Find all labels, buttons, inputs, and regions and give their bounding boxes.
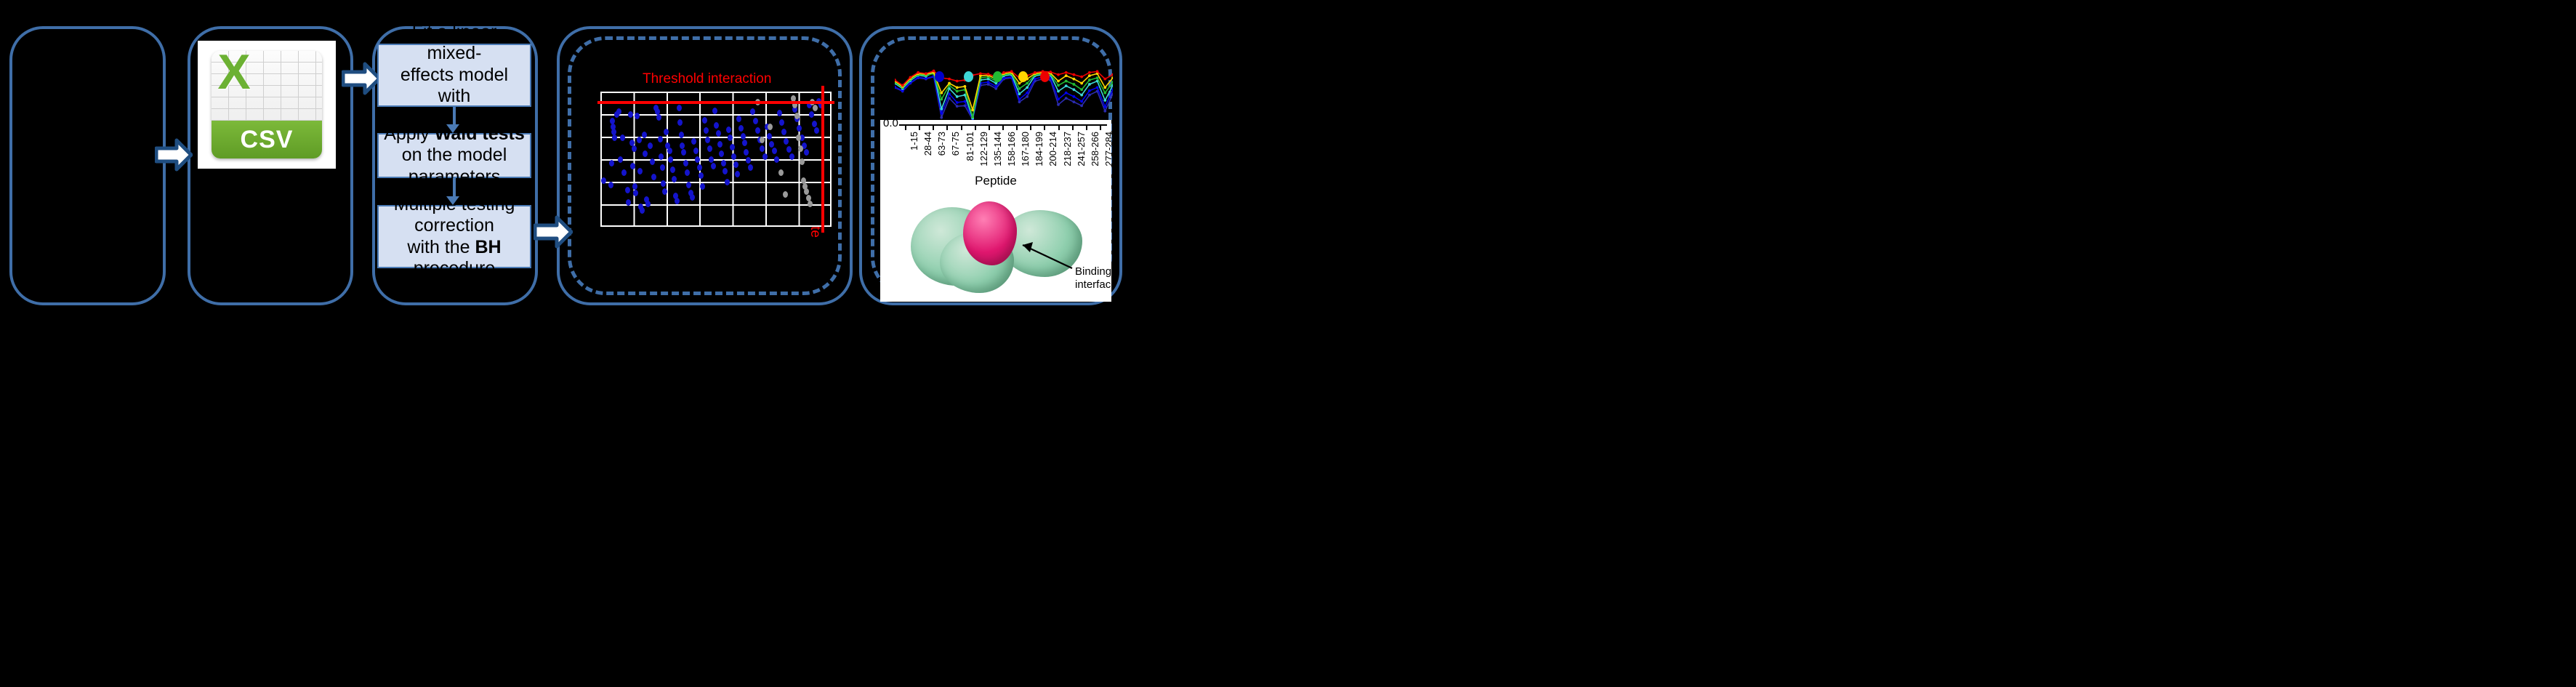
- connector-2-line: [453, 178, 456, 196]
- line-marker: [1103, 86, 1106, 89]
- peptide-label: 158-166: [1006, 132, 1017, 166]
- scatter-point: [662, 188, 667, 195]
- binding-interface-label-line1: Binding: [1075, 265, 1111, 278]
- step-3-pre: with the: [407, 237, 475, 257]
- scatter-point: [711, 163, 716, 169]
- peptide-label: 1-15: [909, 132, 919, 150]
- line-marker: [940, 116, 943, 119]
- line-marker: [956, 101, 959, 104]
- scatter-point: [726, 126, 731, 133]
- csv-label-band: CSV: [212, 121, 322, 158]
- threshold-state-line: [821, 86, 824, 233]
- line-marker: [1026, 86, 1029, 89]
- line-marker: [940, 98, 943, 101]
- scatter-point: [716, 130, 721, 137]
- line-marker: [956, 86, 959, 89]
- peptide-axis-ticks: [899, 124, 1107, 130]
- line-marker: [948, 92, 951, 95]
- axis-tick: [1016, 124, 1018, 130]
- axis-tick: [1072, 124, 1074, 130]
- line-marker: [964, 100, 967, 103]
- scatter-point: [620, 134, 625, 141]
- connector-1-line: [453, 107, 456, 124]
- peptide-label: 277-284: [1103, 132, 1111, 166]
- line-marker: [1018, 100, 1021, 103]
- line-marker: [940, 108, 943, 111]
- step-box-bh: Multiple testing correction with the BH …: [377, 205, 531, 268]
- axis-tick: [989, 124, 990, 130]
- scatter-point: [612, 134, 617, 141]
- input-arrow: [155, 138, 193, 172]
- connector-2-arrowhead: [446, 196, 459, 205]
- scatter-point: [741, 133, 746, 140]
- step-3-line-2: correction: [414, 215, 494, 236]
- scatter-point: [693, 148, 699, 154]
- scatter-point: [707, 145, 712, 152]
- line-marker: [1096, 86, 1099, 89]
- legend-dot: [964, 71, 973, 82]
- scatter-point: [789, 153, 794, 160]
- axis-tick: [946, 124, 948, 130]
- scatter-point: [679, 132, 684, 138]
- scatter-point: [608, 182, 613, 188]
- scatter-point: [728, 134, 733, 141]
- peptide-blob: [963, 201, 1017, 265]
- peptide-label: 28-44: [922, 132, 933, 156]
- line-marker: [1080, 100, 1083, 103]
- line-marker: [1065, 92, 1068, 95]
- scatter-point: [648, 142, 653, 149]
- peptide-label: 218-237: [1062, 132, 1073, 166]
- scatter-point: [645, 201, 651, 207]
- line-marker: [971, 116, 974, 118]
- scatter-point: [699, 172, 704, 179]
- scatter-point: [632, 145, 637, 152]
- axis-tick: [1100, 124, 1101, 130]
- scatter-point: [656, 114, 661, 121]
- axis-tick: [1058, 124, 1060, 130]
- scatter-point: [700, 183, 705, 190]
- line-marker: [940, 92, 943, 95]
- scatter-point: [686, 182, 691, 188]
- axis-tick: [919, 124, 920, 130]
- line-marker: [1018, 92, 1021, 95]
- binding-interface-label-line2: interface: [1075, 278, 1111, 292]
- scatter-point: [753, 118, 758, 124]
- step-3-bold: BH: [475, 237, 502, 257]
- scatter-point: [794, 113, 800, 119]
- peptide-label: 135-144: [992, 132, 1003, 166]
- line-marker: [948, 82, 951, 85]
- line-marker: [956, 95, 959, 98]
- peptide-label: 258-266: [1090, 132, 1100, 166]
- line-marker: [1103, 110, 1106, 113]
- scatter-point: [685, 169, 690, 176]
- y-tick-label: 0.0: [883, 120, 898, 129]
- line-marker: [1026, 95, 1029, 98]
- axis-tick: [1086, 124, 1087, 130]
- scatter-point: [630, 163, 635, 169]
- scatter-point: [798, 145, 803, 152]
- line-marker: [1080, 82, 1083, 85]
- scatter-point: [778, 169, 784, 176]
- scatter-point: [690, 194, 695, 201]
- scatter-point: [772, 148, 777, 154]
- line-marker: [1080, 88, 1083, 91]
- line-marker: [1018, 87, 1021, 90]
- scatter-point: [760, 145, 765, 152]
- line-marker: [1057, 90, 1060, 93]
- line-marker: [1026, 82, 1029, 85]
- scatter-point: [804, 188, 809, 195]
- scatter-point: [735, 171, 740, 177]
- axis-tick: [1044, 124, 1045, 130]
- scatter-point: [659, 153, 664, 160]
- threshold-interaction-line: [597, 101, 834, 104]
- peptide-label: 184-199: [1034, 132, 1045, 166]
- scatter-point: [730, 144, 735, 150]
- scatter-point: [762, 153, 768, 160]
- csv-label: CSV: [241, 126, 294, 154]
- line-marker: [1073, 83, 1076, 86]
- peptide-label: 241-257: [1076, 132, 1087, 166]
- line-marker: [1103, 99, 1106, 102]
- line-marker: [1065, 97, 1068, 100]
- legend-dot: [1018, 71, 1028, 82]
- line-marker: [956, 105, 959, 108]
- line-marker: [1065, 84, 1068, 87]
- scatter-point: [709, 156, 714, 163]
- line-marker: [901, 84, 904, 87]
- line-marker: [971, 108, 974, 111]
- peptide-axis-title: Peptide: [880, 174, 1111, 188]
- axis-tick: [933, 124, 934, 130]
- line-marker: [1103, 92, 1106, 95]
- scatter-point: [797, 125, 802, 132]
- scatter-point: [733, 161, 738, 168]
- excel-x-glyph: X: [213, 52, 255, 95]
- scatter-point: [712, 108, 717, 114]
- line-marker: [1057, 84, 1060, 87]
- legend-dot: [1040, 71, 1050, 82]
- line-marker: [1088, 83, 1091, 86]
- threshold-interaction-label: Threshold interaction: [643, 71, 771, 87]
- scatter-point: [642, 132, 647, 138]
- line-marker: [1088, 94, 1091, 97]
- line-marker: [1026, 92, 1029, 95]
- peptide-label: 81-101: [965, 132, 975, 161]
- csv-to-steps-arrow: [342, 62, 381, 95]
- csv-file-card: X CSV: [198, 41, 336, 169]
- connector-1-arrowhead: [446, 124, 459, 133]
- peptide-tick-labels: 1-1528-4463-7367-7581-101122-129135-1441…: [899, 132, 1107, 175]
- scatter-point: [660, 164, 665, 171]
- scatter-point: [640, 207, 645, 214]
- axis-tick: [961, 124, 962, 130]
- scatter-point: [812, 121, 817, 127]
- peptide-label: 167-180: [1020, 132, 1031, 166]
- line-marker: [940, 112, 943, 115]
- scatter-point: [702, 117, 707, 124]
- line-marker: [1057, 98, 1060, 101]
- line-marker: [1080, 104, 1083, 107]
- peptide-label: 67-75: [950, 132, 961, 156]
- line-marker: [994, 85, 997, 88]
- peptide-label: 122-129: [978, 132, 989, 166]
- figure-stage: X CSV Fit a linear mixed- effects model …: [0, 0, 2576, 687]
- line-marker: [956, 90, 959, 93]
- line-marker: [1073, 100, 1076, 103]
- line-marker: [1018, 82, 1021, 85]
- scatter-point: [670, 166, 675, 173]
- line-marker: [1103, 105, 1106, 108]
- axis-tick: [905, 124, 906, 130]
- line-marker: [1080, 94, 1083, 97]
- axis-tick: [975, 124, 976, 130]
- scatter-point: [661, 180, 666, 187]
- steps-to-scatter-arrow: [534, 215, 573, 249]
- scatter-plot: [600, 92, 832, 227]
- scatter-point: [632, 183, 637, 190]
- scatter-point: [721, 160, 726, 166]
- csv-file-icon: X CSV: [212, 51, 322, 158]
- axis-tick: [1002, 124, 1004, 130]
- scatter-point: [658, 136, 663, 142]
- peptide-profile-legend: [895, 71, 1113, 81]
- scatter-point: [618, 156, 623, 163]
- scatter-point: [748, 164, 753, 171]
- scatter-point: [672, 176, 677, 182]
- scatter-point: [800, 158, 805, 165]
- scatter-point: [643, 150, 648, 157]
- scatter-point: [774, 156, 779, 163]
- line-marker: [1057, 103, 1060, 106]
- step-3-post: procedure: [414, 258, 496, 278]
- line-marker: [1073, 95, 1076, 98]
- step-2-pre: Apply: [384, 124, 434, 144]
- line-marker: [964, 85, 967, 88]
- line-marker: [1088, 89, 1091, 92]
- step-1-line-1: Fit a linear mixed-: [412, 22, 497, 64]
- scatter-point: [695, 156, 700, 163]
- scatter-point: [626, 199, 631, 206]
- line-marker: [1018, 98, 1021, 101]
- step-1-line-2: effects model with: [401, 65, 508, 107]
- scatter-point: [783, 191, 788, 198]
- peptide-label: 200-214: [1047, 132, 1058, 166]
- legend-dot: [993, 71, 1002, 82]
- binding-interface-label: Binding interface: [1075, 265, 1111, 291]
- protein-structure-render: Peptide: [915, 191, 1071, 293]
- scatter-point: [633, 190, 638, 196]
- pipeline-panel-1: [9, 26, 166, 305]
- line-series: [895, 77, 1113, 120]
- step-box-reml: Fit a linear mixed- effects model with R…: [377, 44, 531, 107]
- legend-dot: [935, 71, 944, 82]
- scatter-point: [725, 179, 730, 185]
- scatter-point: [677, 105, 682, 111]
- scatter-point: [628, 111, 633, 118]
- scatter-point: [697, 164, 702, 171]
- line-marker: [1073, 88, 1076, 91]
- axis-tick: [1030, 124, 1031, 130]
- scatter-point: [651, 174, 656, 180]
- scatter-point: [637, 168, 643, 174]
- peptide-label: 63-73: [936, 132, 947, 156]
- scatter-point: [683, 160, 688, 166]
- step-box-wald: Apply Wald tests on the model parameters: [377, 133, 531, 178]
- structure-inset-card: 0.0 1-1528-4463-7367-7581-101122-129135-…: [880, 120, 1111, 302]
